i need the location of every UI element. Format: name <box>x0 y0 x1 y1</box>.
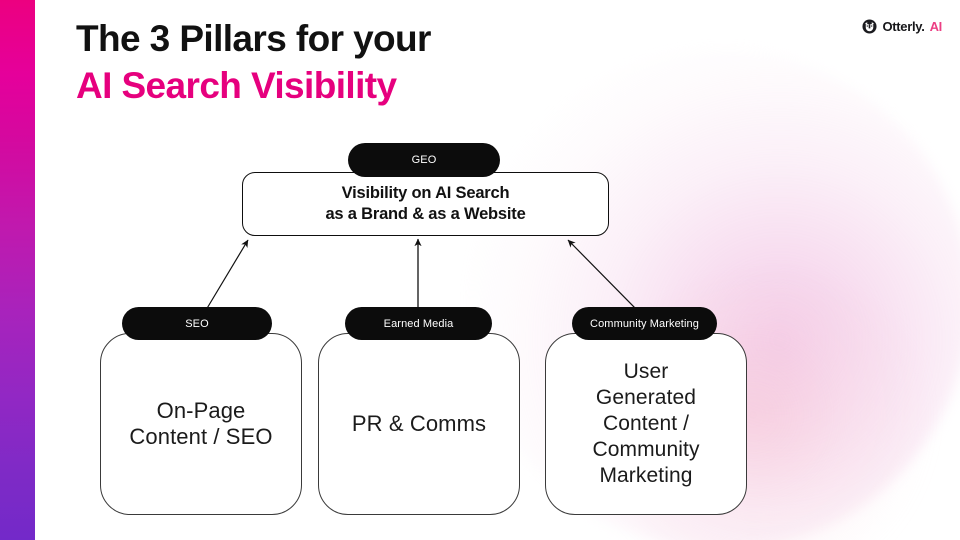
pillar-card-seo-text: On-Page Content / SEO <box>119 398 282 450</box>
pillar-card-seo-line2: Content / SEO <box>129 424 272 450</box>
connector-community-marketing <box>568 240 637 310</box>
pillar-card-earned-media-line1: PR & Comms <box>352 411 486 437</box>
brand-logo[interactable]: Otterly. AI <box>862 19 942 34</box>
pillar-card-earned-media-text: PR & Comms <box>342 411 496 437</box>
pillar-card-community-marketing[interactable]: User Generated Content / Community Marke… <box>545 333 747 515</box>
pillar-card-community-marketing-text: User Generated Content / Community Marke… <box>582 359 709 489</box>
badge-community-marketing-label: Community Marketing <box>590 318 699 330</box>
logo-wordmark: Otterly. <box>882 20 924 33</box>
badge-seo-label: SEO <box>185 318 209 330</box>
pillar-card-community-line3: Content / <box>592 411 699 437</box>
pillar-card-earned-media[interactable]: PR & Comms <box>318 333 520 515</box>
pillar-card-community-line4: Community <box>592 437 699 463</box>
pillar-card-community-line2: Generated <box>592 385 699 411</box>
page-title-line1: The 3 Pillars for your <box>76 15 431 62</box>
pillar-card-community-line5: Marketing <box>592 463 699 489</box>
page-title-line2: AI Search Visibility <box>76 62 431 109</box>
logo-wordmark-suffix: AI <box>930 20 942 33</box>
pillar-card-seo[interactable]: On-Page Content / SEO <box>100 333 302 515</box>
left-gradient-rail <box>0 0 35 540</box>
badge-earned-media[interactable]: Earned Media <box>345 307 492 340</box>
badge-geo-label: GEO <box>412 154 437 166</box>
pillar-card-community-line1: User <box>592 359 699 385</box>
badge-community-marketing[interactable]: Community Marketing <box>572 307 717 340</box>
badge-geo[interactable]: GEO <box>348 143 500 177</box>
badge-seo[interactable]: SEO <box>122 307 272 340</box>
root-node-line1: Visibility on AI Search <box>325 183 525 204</box>
root-node-line2: as a Brand & as a Website <box>325 204 525 225</box>
otter-circle-icon <box>862 19 877 34</box>
slide-canvas: The 3 Pillars for your AI Search Visibil… <box>0 0 960 540</box>
root-node-text: Visibility on AI Search as a Brand & as … <box>325 183 525 225</box>
connector-seo <box>206 240 248 310</box>
badge-earned-media-label: Earned Media <box>384 318 454 330</box>
pillar-card-seo-line1: On-Page <box>129 398 272 424</box>
page-title: The 3 Pillars for your AI Search Visibil… <box>76 15 431 109</box>
root-node-card[interactable]: Visibility on AI Search as a Brand & as … <box>242 172 609 236</box>
